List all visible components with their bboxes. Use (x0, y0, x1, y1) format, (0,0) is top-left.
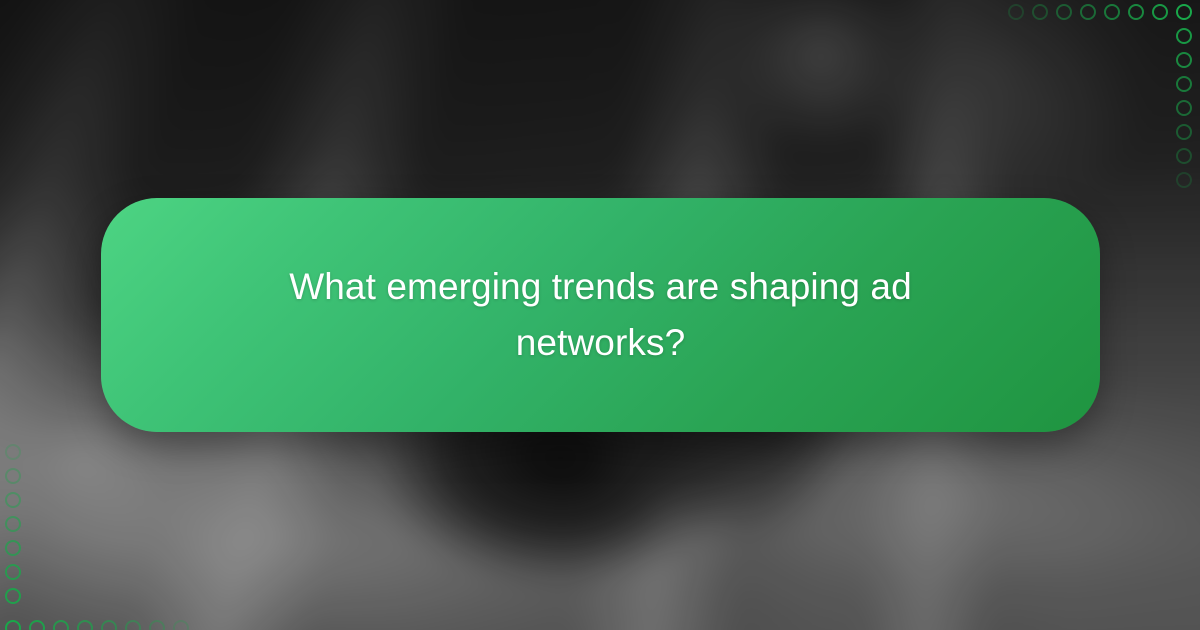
decorative-dot (1176, 76, 1192, 92)
decorative-dots-top-right (1000, 0, 1192, 192)
decorative-dot (1056, 4, 1072, 20)
question-card: What emerging trends are shaping ad netw… (101, 198, 1100, 432)
decorative-dot (29, 620, 45, 630)
decorative-dot (1080, 4, 1096, 20)
decorative-dot (5, 588, 21, 604)
decorative-dot (5, 564, 21, 580)
decorative-dot (5, 620, 21, 630)
decorative-dot (1176, 148, 1192, 164)
decorative-dot (1176, 52, 1192, 68)
decorative-dot (1152, 4, 1168, 20)
decorative-dot (125, 620, 141, 630)
question-text: What emerging trends are shaping ad netw… (271, 259, 931, 371)
decorative-dot (1008, 4, 1024, 20)
decorative-dot (101, 620, 117, 630)
decorative-dot (1176, 28, 1192, 44)
decorative-dot (1104, 4, 1120, 20)
decorative-dot (1176, 100, 1192, 116)
decorative-dot (149, 620, 165, 630)
social-card-canvas: What emerging trends are shaping ad netw… (0, 0, 1200, 630)
decorative-dot (1032, 4, 1048, 20)
decorative-dot (53, 620, 69, 630)
decorative-dot (5, 444, 21, 460)
decorative-dot (1176, 124, 1192, 140)
decorative-dot (5, 516, 21, 532)
decorative-dot (1128, 4, 1144, 20)
decorative-dot (5, 468, 21, 484)
decorative-dot (1176, 4, 1192, 20)
decorative-dots-bottom-left (0, 438, 192, 630)
decorative-dot (173, 620, 189, 630)
decorative-dot (1176, 172, 1192, 188)
decorative-dot (5, 492, 21, 508)
decorative-dot (5, 540, 21, 556)
decorative-dot (77, 620, 93, 630)
